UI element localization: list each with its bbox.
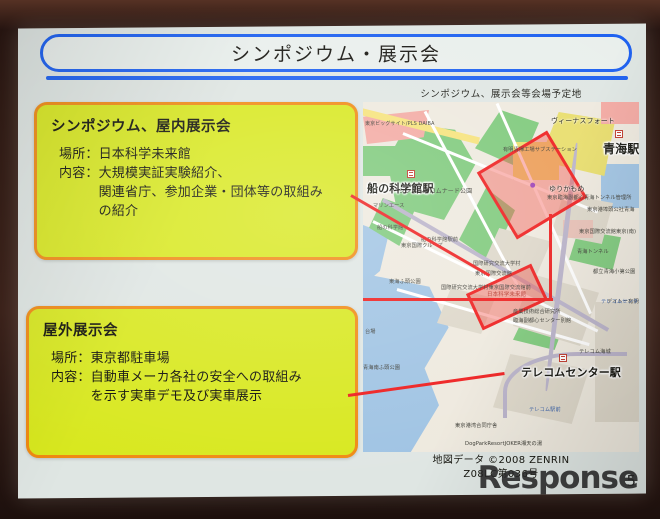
map-label-kokusai-koryukan-s: 東京国際交流館東京(南) xyxy=(579,228,636,235)
callout-outdoor-exhibition: 屋外展示会 場所：東京都駐車場 内容：自動車メーカ各社の安全への取組み を示す実… xyxy=(26,306,358,458)
slide-title-bar: シンポジウム・展示会 xyxy=(40,34,632,72)
page-number: 5 xyxy=(626,472,636,490)
map-label-venusfort: ヴィーナスフォート xyxy=(551,116,615,126)
title-underline-rule xyxy=(46,76,628,80)
map-image: 船の科学館駅 テレコムセンター駅 青海駅 ヴィーナスフォート ゆりかもめ シンボ… xyxy=(363,102,639,452)
map-label-daiba: 台場 xyxy=(365,328,376,335)
response-watermark: Response xyxy=(478,463,638,494)
station-marker-aomi xyxy=(615,130,623,138)
callout-outdoor-headline: 屋外展示会 xyxy=(43,319,343,340)
callout-indoor-body: 場所：日本科学未来館 内容：大規模実証実験紹介、 関連省庁、参加企業・団体等の取… xyxy=(51,146,343,221)
slide-title: シンポジウム・展示会 xyxy=(43,40,629,67)
venue-connector-horizontal xyxy=(363,298,553,301)
map-label-bigsight-daiba: 東京ビッグサイト/PLS DAIBA xyxy=(365,120,435,127)
map-label-tokai-park: 東海ふ頭公園 xyxy=(389,278,421,285)
map-label-symbol-promenade: シンボルプロムナード公園 xyxy=(399,186,472,195)
station-marker-telecom xyxy=(559,354,567,362)
callout-indoor-headline: シンポジウム、屋内展示会 xyxy=(51,115,343,136)
map-label-aist: 産業技術総合研究所 xyxy=(513,308,561,315)
station-label-aomi: 青海駅 xyxy=(603,140,639,157)
callout-outdoor-body: 場所：東京都駐車場 内容：自動車メーカ各社の安全への取組み を示す実車デモ及び実… xyxy=(43,350,343,407)
map-label-substation: 有明清掃工場サブステーション xyxy=(503,146,577,153)
venue-map-panel: シンポジウム、展示会等会場予定地 xyxy=(363,86,639,488)
map-label-dogpark: DogParkResortJOKER湘天の湯 xyxy=(465,440,542,447)
map-label-research-village: 国際研究交流大学村 xyxy=(473,260,521,267)
map-label-yurikamome: ゆりかもめ xyxy=(549,184,585,194)
map-label-aomi-tunnel: 青海トンネル xyxy=(577,248,609,255)
map-water-right xyxy=(601,164,639,208)
projected-slide-photo: シンポジウム・展示会 シンポジウム、屋内展示会 場所：日本科学未来館 内容：大規… xyxy=(0,0,660,519)
station-marker-funenokagakukan xyxy=(407,170,415,178)
map-label-aomi-tunnel-office: 東京臨海副都心青海トンネル管理所 xyxy=(547,194,632,201)
map-label-miraikan: 日本科学未来館 xyxy=(487,290,526,298)
venue-connector-vertical xyxy=(549,214,552,300)
map-label-port-office: 東京港湾合同庁舎 xyxy=(455,422,497,429)
map-label-marine-ace: マリンエース xyxy=(373,202,404,209)
callout-indoor-symposium: シンポジウム、屋内展示会 場所：日本科学未来館 内容：大規模実証実験紹介、 関連… xyxy=(34,102,358,260)
map-park-upper-left xyxy=(363,146,397,176)
presentation-slide: シンポジウム・展示会 シンポジウム、屋内展示会 場所：日本科学未来館 内容：大規… xyxy=(18,24,646,499)
map-label-rinkai-center: 臨海副都心センター別館 xyxy=(513,317,571,324)
map-label-telecom-center: テレコムセンター xyxy=(601,298,639,305)
map-label-aomi-minami-park: 青海南ふ頭公園 xyxy=(363,364,400,371)
map-label-port-corp: 東京港埠頭公社青海 xyxy=(587,206,635,213)
map-label-aomi-park: 都立青海小第公園 xyxy=(593,268,635,275)
map-label-telecom-ekimae: テレコム駅前 xyxy=(529,406,561,413)
station-label-telecom: テレコムセンター駅 xyxy=(521,364,621,380)
map-label-telecom-kaijo: テレコム海城 xyxy=(579,348,611,355)
venue-center-dot xyxy=(529,182,536,189)
map-caption: シンポジウム、展示会等会場予定地 xyxy=(363,86,639,100)
